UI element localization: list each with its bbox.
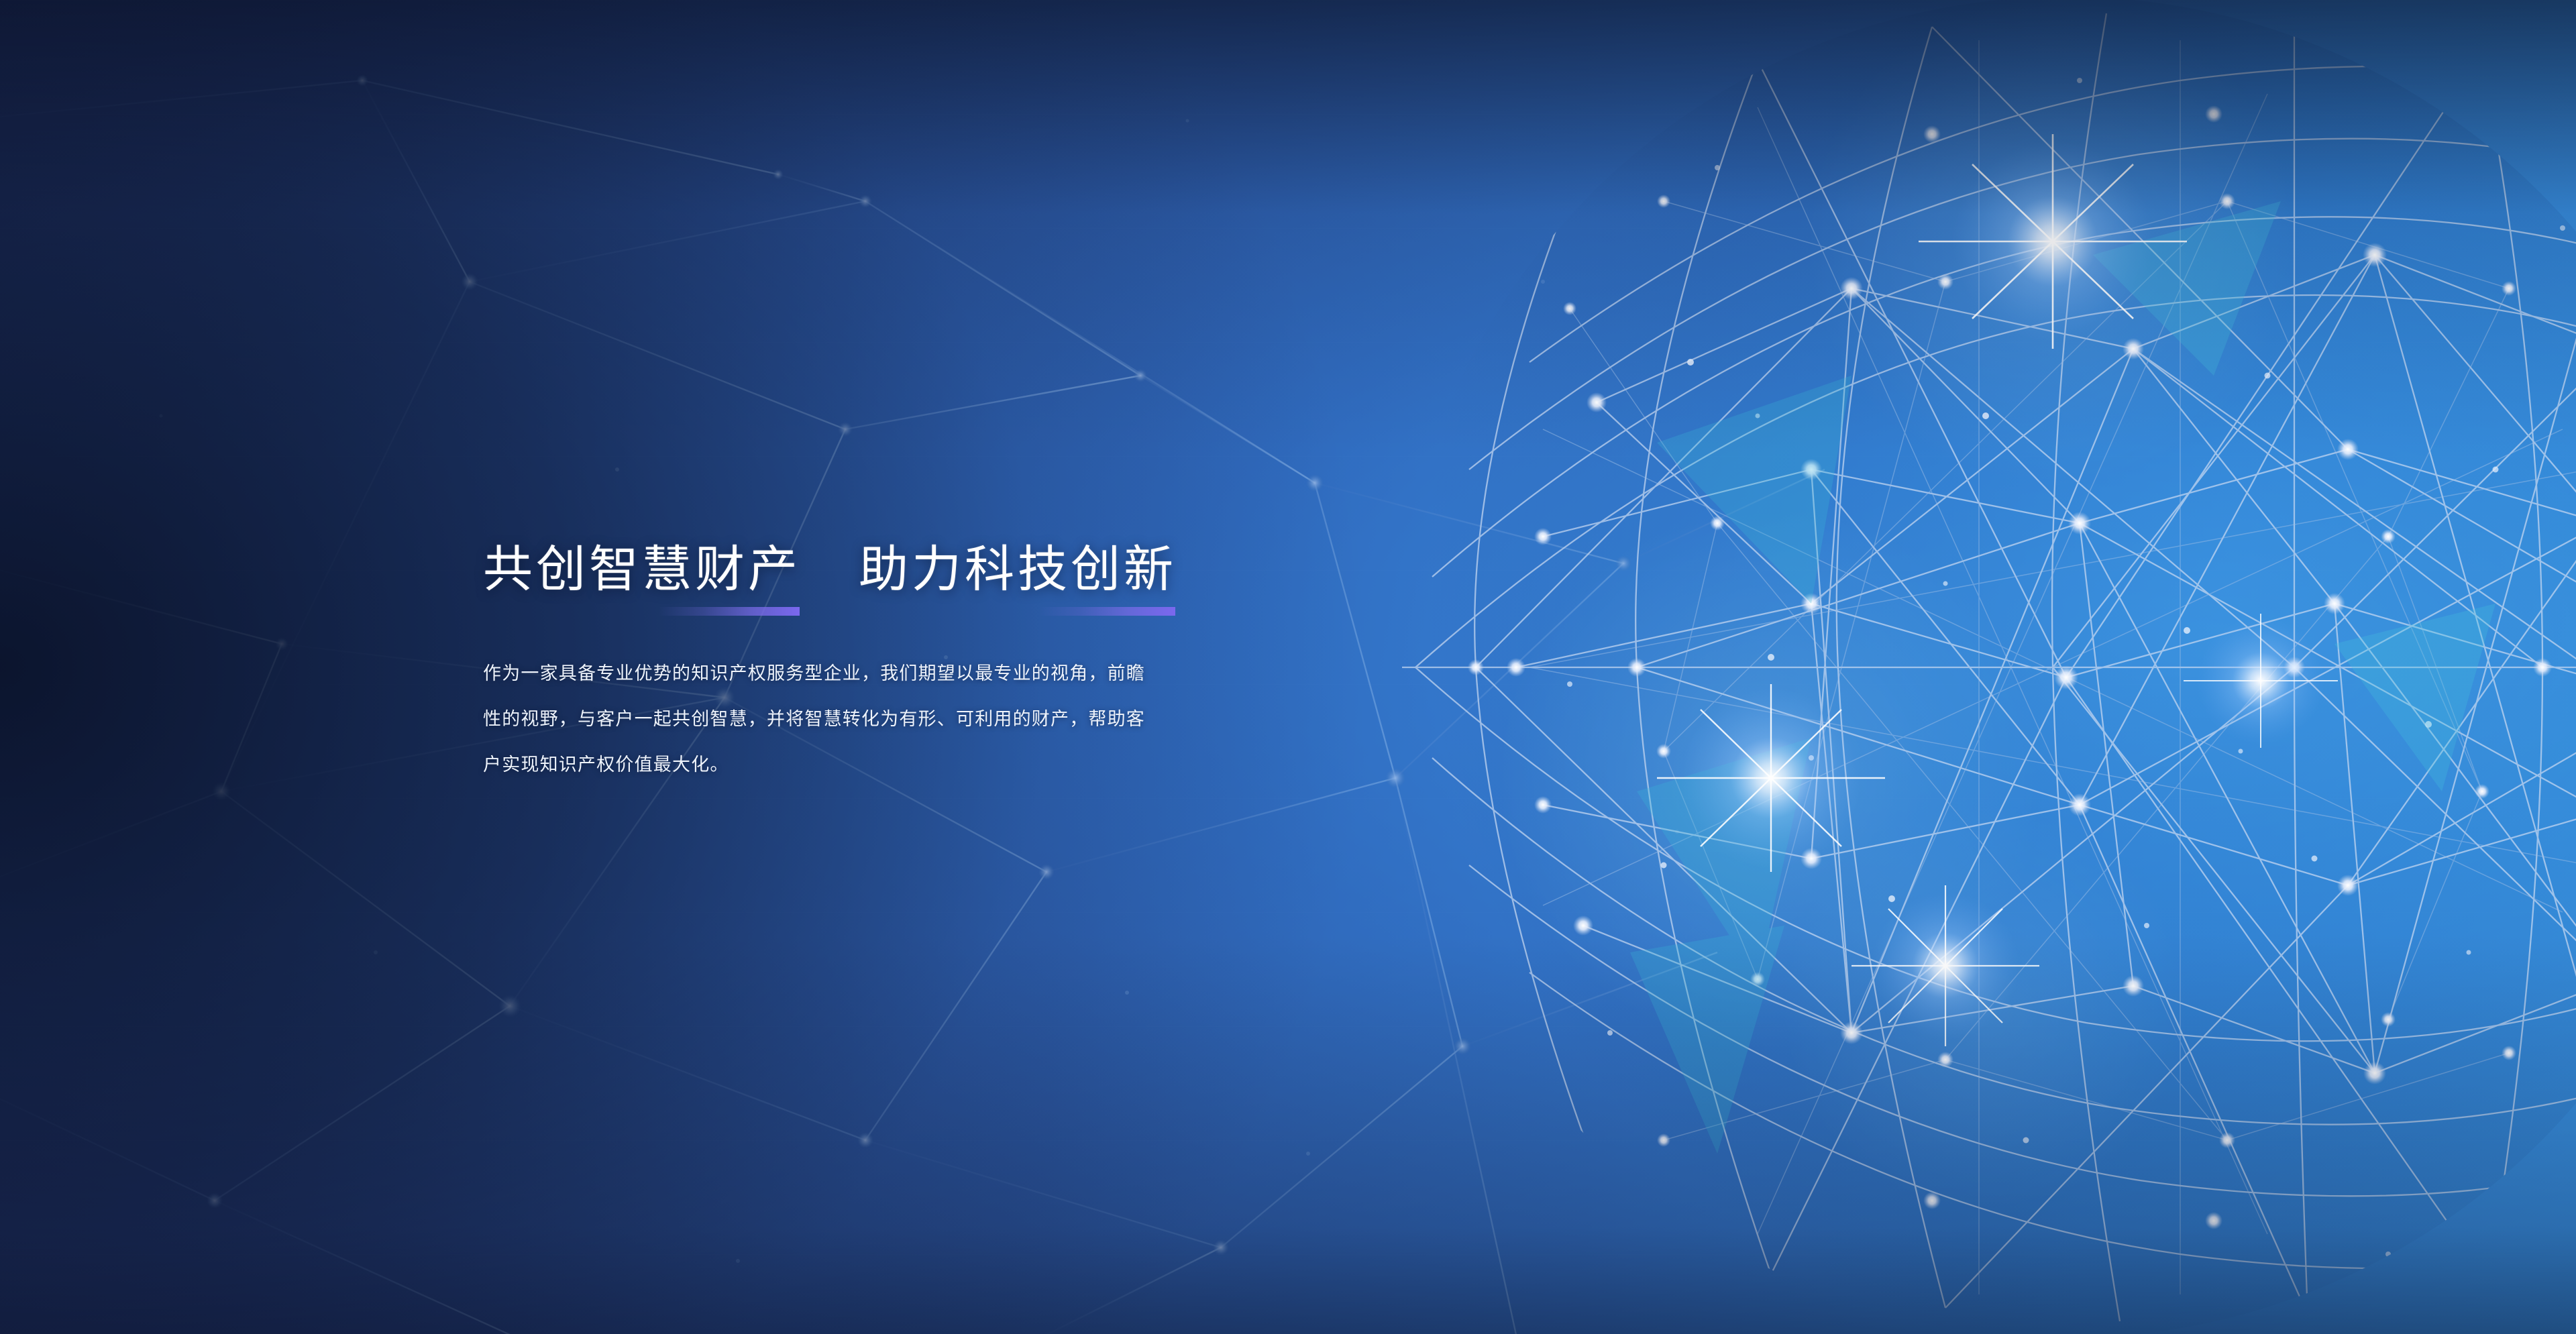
headline-accent-underline-secondary xyxy=(1038,607,1175,616)
hero-banner: 共创智慧财产 助力科技创新 作为一家具备专业优势的知识产权服务型企业，我们期望以… xyxy=(0,0,2576,1334)
headline-segment-secondary-text: 助力科技创新 xyxy=(859,541,1177,597)
page-title: 共创智慧财产 助力科技创新 xyxy=(483,545,1422,616)
description-line-2: 性的视野，与客户一起共创智慧，并将智慧转化为有形、可利用的财产，帮助客 xyxy=(483,696,1254,742)
headline-segment-secondary: 助力科技创新 xyxy=(859,545,1177,616)
description-line-3: 户实现知识产权价值最大化。 xyxy=(483,742,1254,787)
hero-description: 作为一家具备专业优势的知识产权服务型企业，我们期望以最专业的视角，前瞻 性的视野… xyxy=(483,651,1254,787)
hero-copy: 共创智慧财产 助力科技创新 作为一家具备专业优势的知识产权服务型企业，我们期望以… xyxy=(483,545,1422,787)
headline-segment-primary-text: 共创智慧财产 xyxy=(483,541,801,597)
headline-segment-primary: 共创智慧财产 xyxy=(483,545,801,616)
headline-accent-underline-primary xyxy=(659,607,800,616)
description-line-1: 作为一家具备专业优势的知识产权服务型企业，我们期望以最专业的视角，前瞻 xyxy=(483,651,1254,696)
